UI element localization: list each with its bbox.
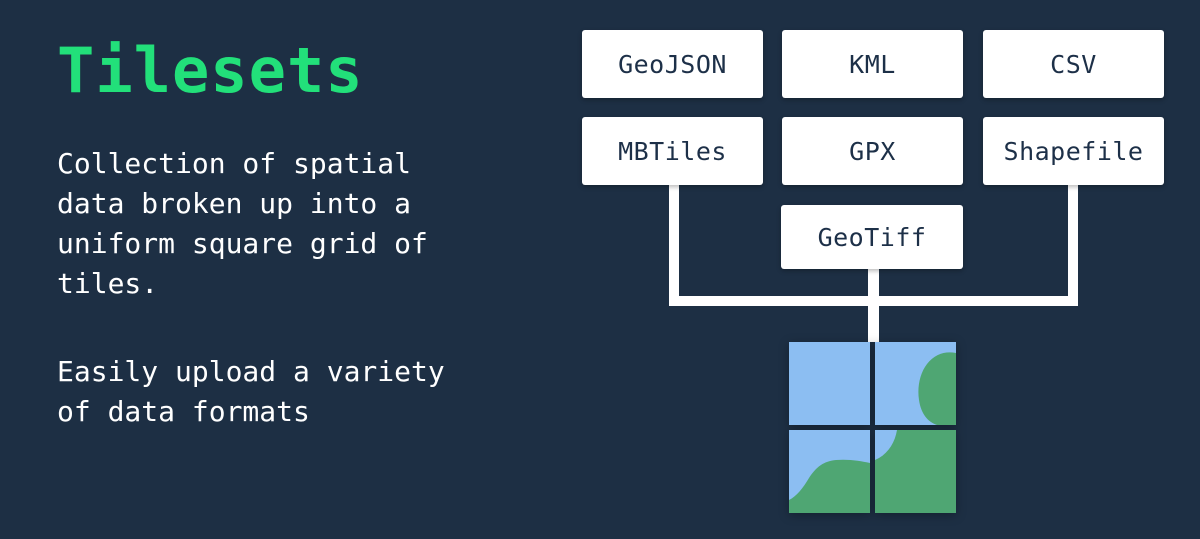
format-box-mbtiles[interactable]: MBTiles: [582, 117, 763, 185]
tile-bottom-right: [875, 430, 956, 513]
format-label-kml: KML: [849, 50, 896, 79]
tile-grid: [789, 342, 956, 513]
connector-right-vertical: [1068, 185, 1078, 303]
formats-diagram: GeoJSON KML CSV MBTiles GPX Shapefile Ge…: [0, 0, 1200, 539]
tile-top-left: [789, 342, 870, 425]
tile-bottom-left: [789, 430, 870, 513]
format-label-mbtiles: MBTiles: [618, 137, 727, 166]
tile-map-top-left-icon: [789, 342, 870, 425]
format-box-geotiff[interactable]: GeoTiff: [781, 205, 963, 269]
tile-map-bottom-left-icon: [789, 430, 870, 513]
format-label-shapefile: Shapefile: [1004, 137, 1144, 166]
format-label-csv: CSV: [1050, 50, 1097, 79]
format-label-geotiff: GeoTiff: [818, 223, 927, 252]
tile-map-bottom-right-icon: [875, 430, 956, 513]
format-box-gpx[interactable]: GPX: [782, 117, 963, 185]
tilesets-promo-card: Tilesets Collection of spatial data brok…: [0, 0, 1200, 539]
format-box-geojson[interactable]: GeoJSON: [582, 30, 763, 98]
format-box-kml[interactable]: KML: [782, 30, 963, 98]
tile-top-right: [875, 342, 956, 425]
format-label-gpx: GPX: [849, 137, 896, 166]
format-box-shapefile[interactable]: Shapefile: [983, 117, 1164, 185]
connector-left-vertical: [669, 185, 679, 303]
format-label-geojson: GeoJSON: [618, 50, 727, 79]
format-box-csv[interactable]: CSV: [983, 30, 1164, 98]
tile-map-top-right-icon: [875, 342, 956, 425]
connector-center-vertical: [868, 268, 879, 342]
